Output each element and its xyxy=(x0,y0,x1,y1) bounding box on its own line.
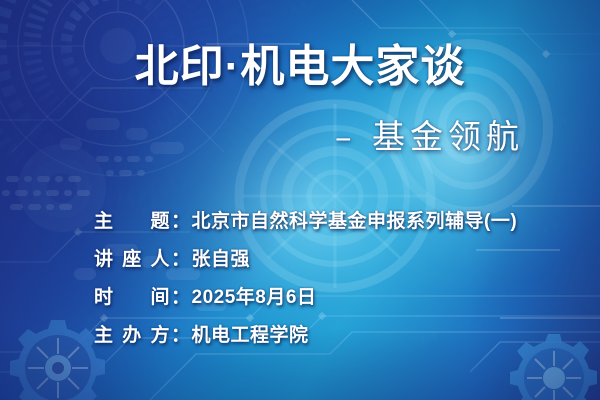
info-colon-speaker: ： xyxy=(170,244,192,271)
info-value-speaker: 张自强 xyxy=(192,244,251,271)
info-label-speaker: 讲座人 xyxy=(94,244,170,271)
info-value-topic: 北京市自然科学基金申报系列辅导(一) xyxy=(192,206,518,233)
info-block: 主题 ： 北京市自然科学基金申报系列辅导(一) 讲座人 ： 张自强 时间 ： 2… xyxy=(94,206,517,358)
poster-content: 北印·机电大家谈 – 基金领航 主题 ： 北京市自然科学基金申报系列辅导(一) … xyxy=(0,0,600,400)
poster-canvas: K·千 K·千 K·千 K·千 K·千 K·千 K·千 K·千 K·千 K·千 … xyxy=(0,0,600,400)
info-colon-time: ： xyxy=(170,282,192,309)
info-label-topic: 主题 xyxy=(94,206,170,233)
info-label-organizer: 主办方 xyxy=(94,320,170,347)
info-colon-topic: ： xyxy=(170,206,192,233)
info-row-topic: 主题 ： 北京市自然科学基金申报系列辅导(一) xyxy=(94,206,517,244)
sub-title: – 基金领航 xyxy=(335,118,524,156)
info-colon-organizer: ： xyxy=(170,320,192,347)
main-title: 北印·机电大家谈 xyxy=(0,42,600,91)
info-value-organizer: 机电工程学院 xyxy=(192,320,309,347)
info-row-time: 时间 ： 2025年8月6日 xyxy=(94,282,517,320)
info-label-time: 时间 xyxy=(94,282,170,309)
info-row-organizer: 主办方 ： 机电工程学院 xyxy=(94,320,517,358)
info-row-speaker: 讲座人 ： 张自强 xyxy=(94,244,517,282)
info-value-time: 2025年8月6日 xyxy=(192,282,317,309)
